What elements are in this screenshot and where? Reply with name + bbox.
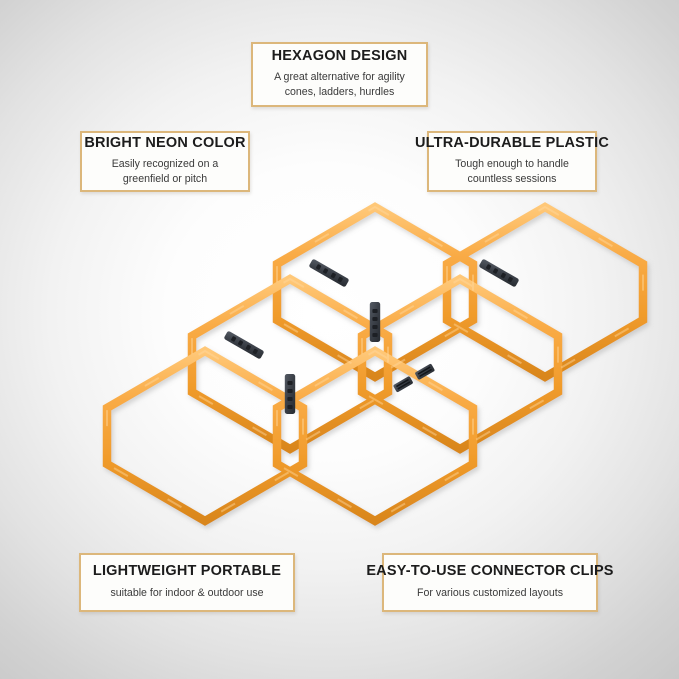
- callout-description: suitable for indoor & outdoor use: [110, 586, 263, 600]
- callout-title: EASY-TO-USE CONNECTOR CLIPS: [366, 563, 613, 580]
- product-infographic: HEXAGON DESIGN A great alternative for a…: [0, 0, 679, 679]
- callout-title: BRIGHT NEON COLOR: [84, 135, 245, 152]
- callout-desc-line2: countless sessions: [468, 173, 557, 185]
- callout-title: ULTRA-DURABLE PLASTIC: [415, 135, 609, 152]
- connector-clip-4: [224, 331, 265, 360]
- callout-desc-line1: Tough enough to handle: [455, 158, 569, 170]
- callout-lightweight-portable: LIGHTWEIGHT PORTABLE suitable for indoor…: [79, 553, 295, 612]
- callout-description: A great alternative for agility cones, l…: [274, 70, 405, 99]
- callout-hexagon-design: HEXAGON DESIGN A great alternative for a…: [251, 42, 428, 107]
- callout-easy-to-use-connector-clips: EASY-TO-USE CONNECTOR CLIPS For various …: [382, 553, 598, 612]
- connector-clip-3: [370, 302, 380, 342]
- callout-title: HEXAGON DESIGN: [272, 48, 408, 65]
- callout-desc-line1: For various customized layouts: [417, 587, 563, 599]
- callout-desc-line2: greenfield or pitch: [123, 173, 207, 185]
- callout-desc-line2: cones, ladders, hurdles: [285, 86, 395, 98]
- callout-desc-line1: A great alternative for agility: [274, 71, 405, 83]
- callout-ultra-durable-plastic: ULTRA-DURABLE PLASTIC Tough enough to ha…: [427, 131, 597, 192]
- connector-clip-2: [479, 259, 520, 288]
- callout-description: For various customized layouts: [417, 586, 563, 600]
- callout-desc-line1: Easily recognized on a: [112, 158, 219, 170]
- callout-description: Easily recognized on a greenfield or pit…: [112, 157, 219, 186]
- callout-desc-line1: suitable for indoor & outdoor use: [110, 587, 263, 599]
- callout-description: Tough enough to handle countless session…: [455, 157, 569, 186]
- callout-bright-neon-color: BRIGHT NEON COLOR Easily recognized on a…: [80, 131, 250, 192]
- callout-title: LIGHTWEIGHT PORTABLE: [93, 563, 281, 580]
- connector-clip-6: [285, 374, 295, 414]
